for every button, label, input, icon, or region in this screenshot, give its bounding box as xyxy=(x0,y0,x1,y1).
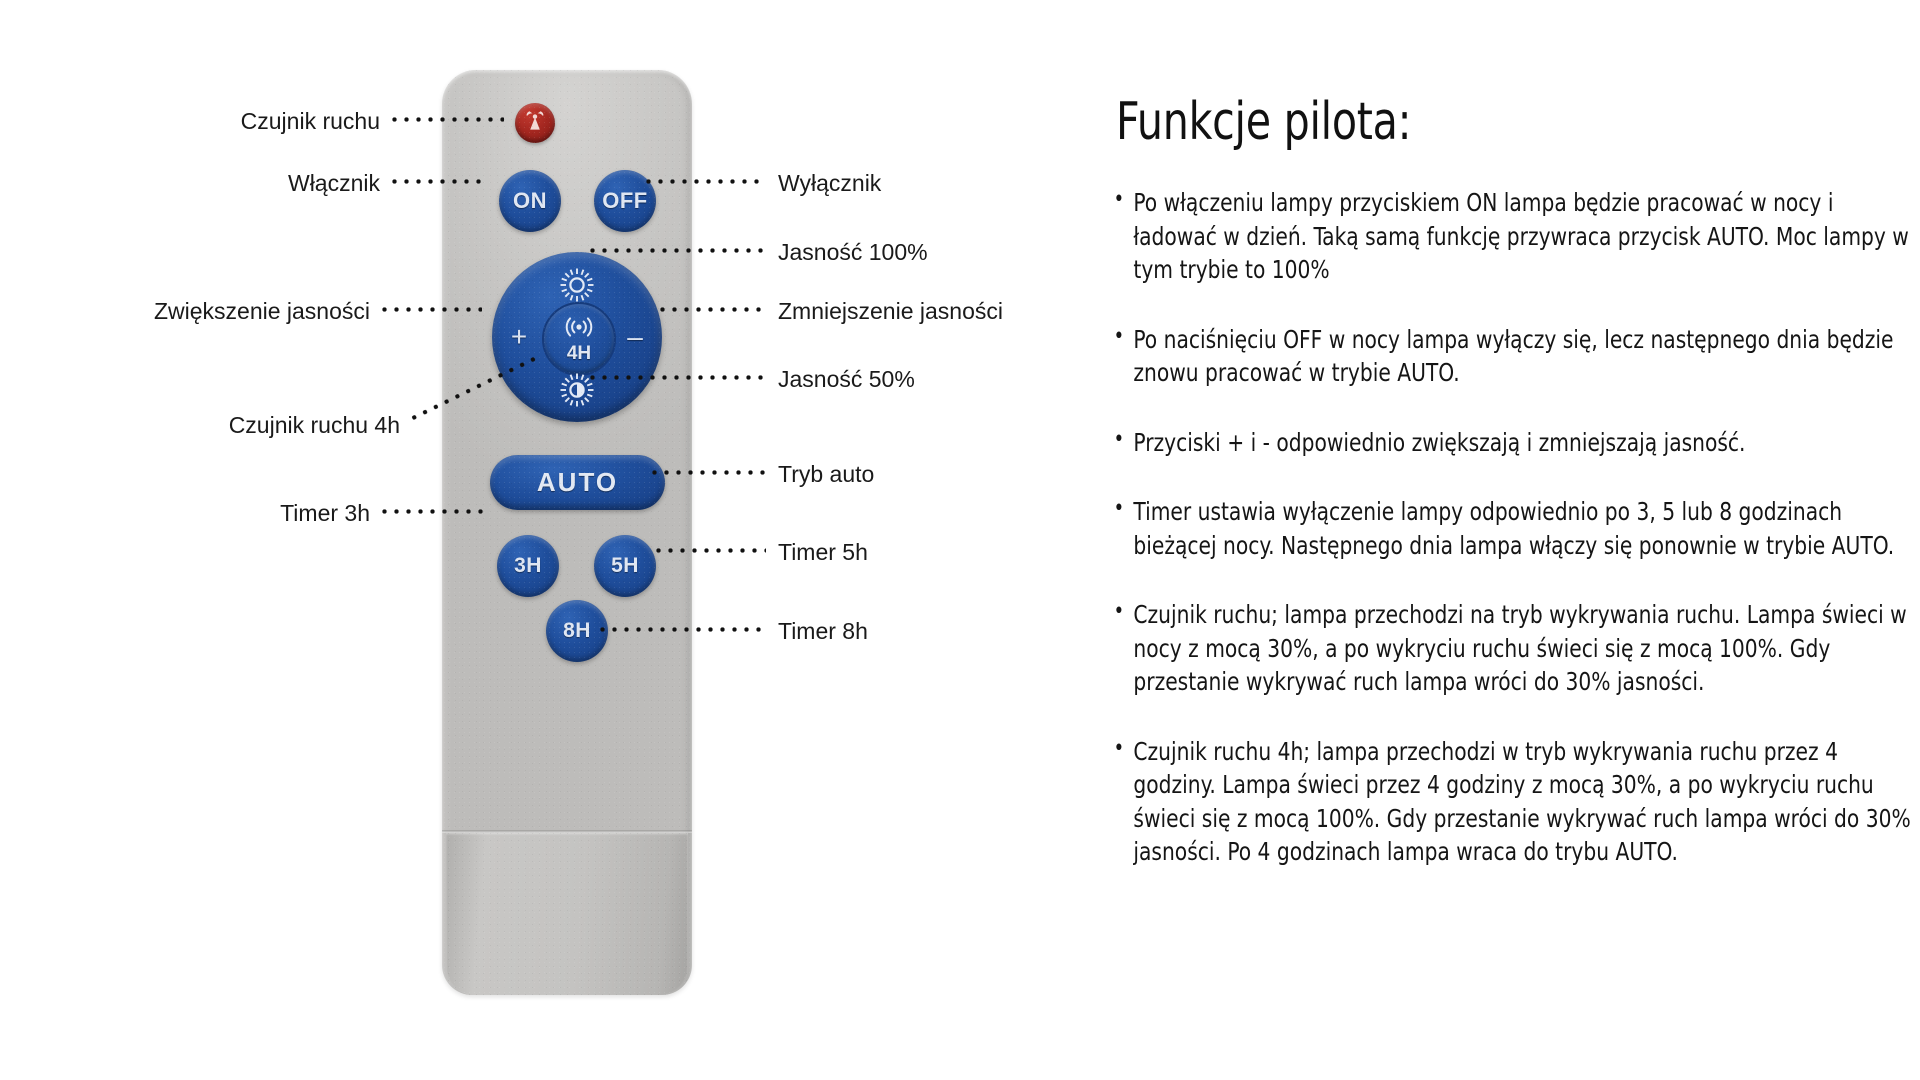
callout-power-on-label: Włącznik xyxy=(288,170,380,196)
leader-brightness-decrease xyxy=(660,307,766,312)
functions-list: Po włączeniu lampy przyciskiem ON lampa … xyxy=(1110,186,1900,869)
leader-brightness-increase xyxy=(382,307,482,312)
remote-control: ON OFF xyxy=(420,70,710,1010)
power-on-button[interactable]: ON xyxy=(499,170,561,232)
functions-panel: Funkcje pilota: Po włączeniu lampy przyc… xyxy=(1110,92,1900,905)
callout-brightness-100: Jasność 100% xyxy=(778,239,928,266)
motion-sensor-4h-button[interactable]: 4H xyxy=(542,302,616,376)
brightness-100-button[interactable] xyxy=(559,267,595,303)
panel-title: Funkcje pilota: xyxy=(1116,92,1806,152)
callout-motion-sensor-4h-label: Czujnik ruchu 4h xyxy=(229,412,400,438)
callout-motion-sensor-4h: Czujnik ruchu 4h xyxy=(100,412,400,439)
callout-brightness-decrease-label: Zmniejszenie jasności xyxy=(778,298,1003,324)
callout-brightness-increase: Zwiększenie jasności xyxy=(50,298,370,325)
motion-sensor-icon xyxy=(524,109,546,138)
timer-5h-button[interactable]: 5H xyxy=(594,535,656,597)
callout-power-off: Wyłącznik xyxy=(778,170,881,197)
motion-sensor-button[interactable] xyxy=(515,103,555,143)
battery-lid xyxy=(446,833,688,995)
timer-8h-label: 8H xyxy=(563,619,591,643)
callout-timer-3h-label: Timer 3h xyxy=(280,500,370,526)
callout-brightness-decrease: Zmniejszenie jasności xyxy=(778,298,1003,325)
leader-timer-3h xyxy=(382,509,486,514)
callout-brightness-50: Jasność 50% xyxy=(778,366,915,393)
callout-brightness-increase-label: Zwiększenie jasności xyxy=(154,298,370,324)
callout-brightness-50-label: Jasność 50% xyxy=(778,366,915,392)
brightness-increase-button[interactable]: + xyxy=(506,324,532,350)
callout-timer-5h: Timer 5h xyxy=(778,539,868,566)
plus-label: + xyxy=(511,323,527,351)
timer-3h-button[interactable]: 3H xyxy=(497,535,559,597)
leader-power-off xyxy=(646,179,766,184)
leader-power-on xyxy=(392,179,488,184)
callout-brightness-100-label: Jasność 100% xyxy=(778,239,928,265)
callout-timer-8h-label: Timer 8h xyxy=(778,618,868,644)
callout-auto-mode-label: Tryb auto xyxy=(778,461,874,487)
timer-3h-label: 3H xyxy=(514,554,542,578)
callout-motion-sensor-label: Czujnik ruchu xyxy=(241,108,380,134)
auto-label: AUTO xyxy=(537,467,618,498)
infographic-canvas: ON OFF xyxy=(0,0,1920,1080)
power-off-label: OFF xyxy=(602,188,648,214)
leader-brightness-100 xyxy=(590,248,766,253)
dpad-4h-label: 4H xyxy=(567,344,591,363)
callout-motion-sensor: Czujnik ruchu xyxy=(180,108,380,135)
leader-brightness-50 xyxy=(590,375,766,380)
leader-timer-8h xyxy=(600,627,766,632)
brightness-decrease-button[interactable]: – xyxy=(622,324,648,350)
list-item: Czujnik ruchu 4h; lampa przechodzi w try… xyxy=(1110,735,1920,869)
list-item: Timer ustawia wyłączenie lampy odpowiedn… xyxy=(1110,495,1920,562)
timer-8h-button[interactable]: 8H xyxy=(546,600,608,662)
leader-timer-5h xyxy=(656,548,766,553)
callout-power-off-label: Wyłącznik xyxy=(778,170,881,196)
list-item: Po włączeniu lampy przyciskiem ON lampa … xyxy=(1110,186,1920,287)
timer-5h-label: 5H xyxy=(611,554,639,578)
leader-auto-mode xyxy=(652,470,766,475)
power-on-label: ON xyxy=(513,188,547,214)
callout-power-on: Włącznik xyxy=(190,170,380,197)
list-item: Czujnik ruchu; lampa przechodzi na tryb … xyxy=(1110,598,1920,699)
auto-mode-button[interactable]: AUTO xyxy=(490,455,665,510)
callout-auto-mode: Tryb auto xyxy=(778,461,874,488)
sun-half-icon xyxy=(559,395,595,412)
callout-timer-3h: Timer 3h xyxy=(200,500,370,527)
list-item: Po naciśnięciu OFF w nocy lampa wyłączy … xyxy=(1110,323,1920,390)
list-item: Przyciski + i - odpowiednio zwiększają i… xyxy=(1110,426,1920,460)
leader-motion-sensor xyxy=(392,117,504,122)
dpad-control[interactable]: + – xyxy=(492,252,662,422)
motion-wave-icon xyxy=(558,316,600,343)
minus-label: – xyxy=(627,323,643,351)
callout-timer-5h-label: Timer 5h xyxy=(778,539,868,565)
remote-body: ON OFF xyxy=(442,70,692,995)
callout-timer-8h: Timer 8h xyxy=(778,618,868,645)
